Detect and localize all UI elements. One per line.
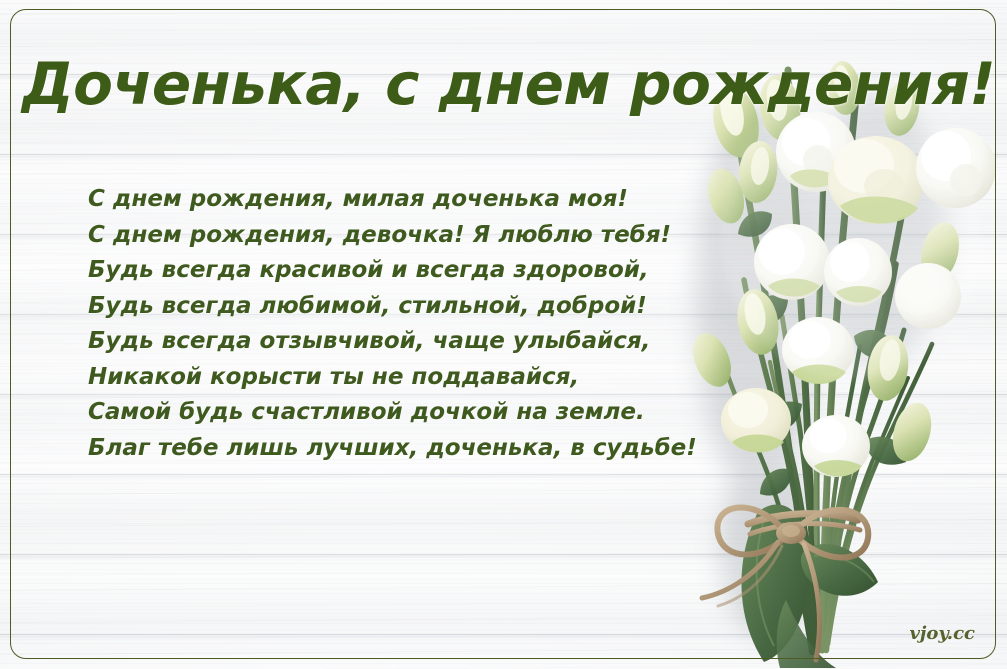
page-title: Доченька, с днем рождения!	[22, 48, 852, 120]
poem-block: С днем рождения, милая доченька моя! С д…	[88, 182, 688, 466]
poem-line: Будь всегда красивой и всегда здоровой,	[88, 253, 688, 289]
poem-line: С днем рождения, девочка! Я люблю тебя!	[88, 218, 688, 254]
poem-line: Никакой корысти ты не поддавайся,	[88, 360, 688, 396]
poem-line: Благ тебе лишь лучших, доченька, в судьб…	[88, 431, 688, 467]
poem-line: Будь всегда любимой, стильной, доброй!	[88, 289, 688, 325]
poem-line: Самой будь счастливой дочкой на земле.	[88, 395, 688, 431]
poem-line: С днем рождения, милая доченька моя!	[88, 182, 688, 218]
poem-line: Будь всегда отзывчивой, чаще улыбайся,	[88, 324, 688, 360]
watermark: vjoy.cc	[909, 623, 975, 644]
greeting-card: Доченька, с днем рождения! С днем рожден…	[0, 0, 1007, 669]
